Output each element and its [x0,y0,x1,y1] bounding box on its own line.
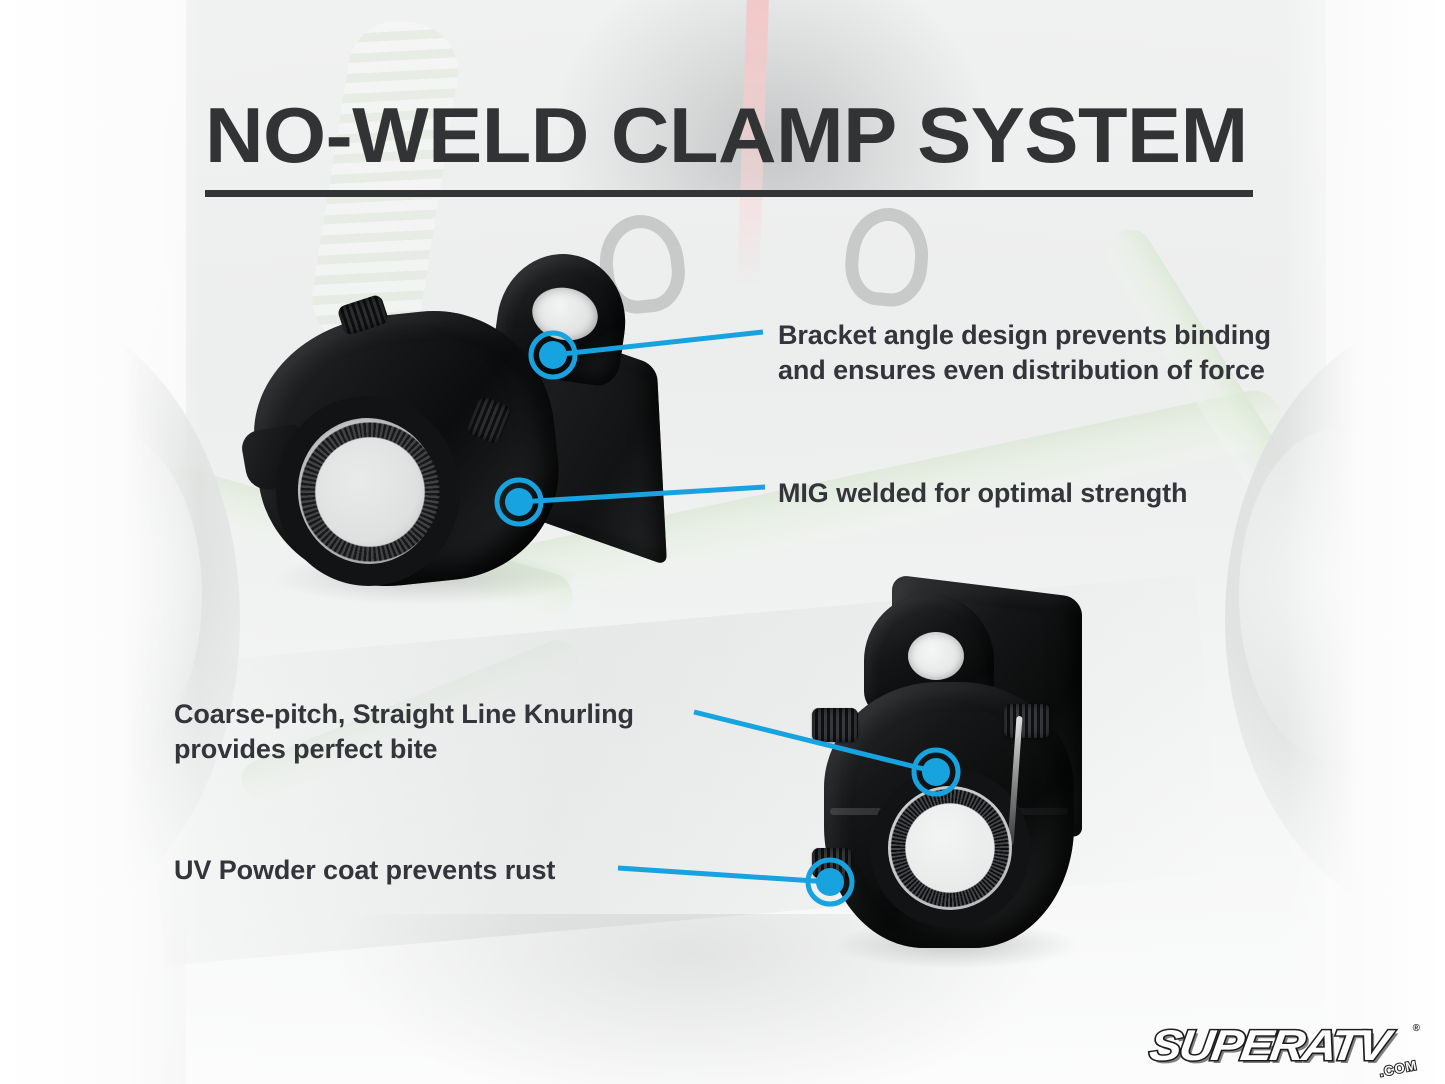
callout-label-powder-coat: UV Powder coat prevents rust [174,853,555,888]
clamp-b-tab-hole [908,632,964,680]
superatv-logo: SUPERATV .COM ® [1150,1021,1420,1077]
callout-label-bracket-angle: Bracket angle design prevents binding an… [778,318,1271,388]
clamp-b-bolt-left-top [812,708,858,742]
clamp-b-bolt-left-bottom [812,848,852,878]
clamp-b-bolt-right-top [1004,704,1050,738]
infographic-poster: NO-WELD CLAMP SYSTEM [0,0,1445,1084]
clamp-b-knurling [872,770,1028,926]
background-fade-right [1285,0,1445,1084]
logo-wordmark: SUPERATV [1147,1023,1391,1069]
callout-label-knurling: Coarse-pitch, Straight Line Knurling pro… [174,697,634,767]
title-underline [205,190,1253,197]
callout-label-mig-welded: MIG welded for optimal strength [778,476,1187,511]
product-clamp-angled-view [236,252,676,612]
product-clamp-front-view [806,586,1126,956]
title-block: NO-WELD CLAMP SYSTEM [205,96,1255,197]
background-fade-left [0,0,200,1084]
logo-registered-mark: ® [1413,1023,1420,1034]
page-title: NO-WELD CLAMP SYSTEM [205,96,1297,174]
